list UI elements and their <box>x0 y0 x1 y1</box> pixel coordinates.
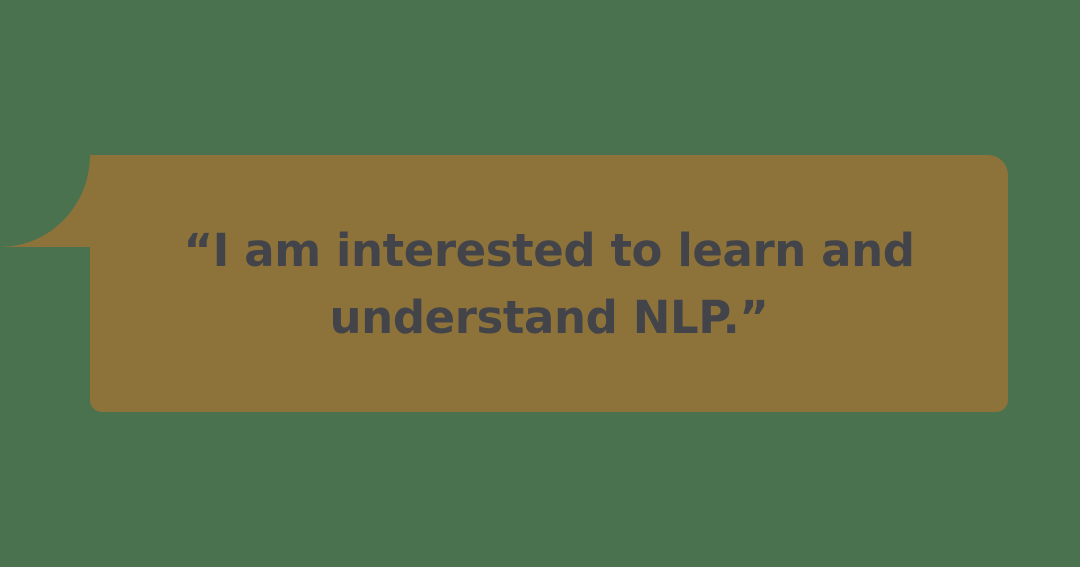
quote-line-1: “I am interested to learn and <box>183 217 914 284</box>
panel-corner-flare <box>0 155 90 247</box>
quote-line-2: understand NLP.” <box>330 284 769 351</box>
slide-canvas: “I am interested to learn and understand… <box>0 0 1080 567</box>
quote-text-block: “I am interested to learn and understand… <box>90 155 1008 412</box>
